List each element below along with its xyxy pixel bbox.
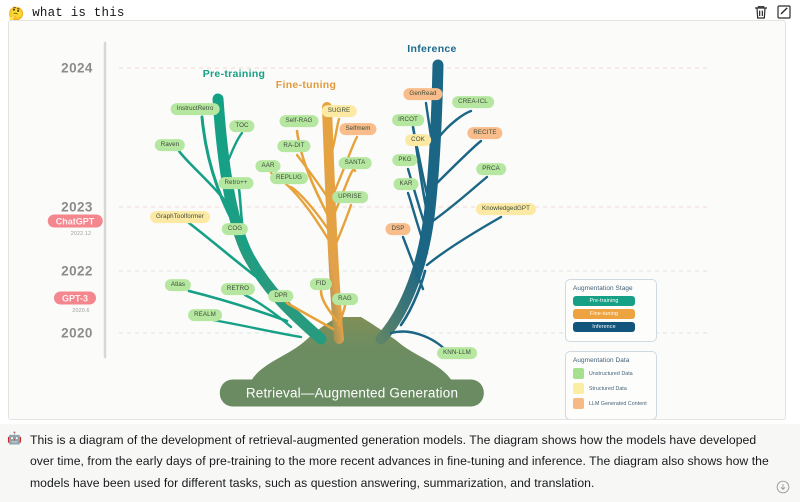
user-message-text: what is this	[32, 6, 124, 20]
timeline-event-chatgpt: ChatGPT	[48, 215, 103, 228]
model-node: PKG	[392, 154, 417, 166]
assistant-reply-text: This is a diagram of the development of …	[30, 430, 774, 502]
assistant-avatar-emoji: 🤖	[7, 432, 22, 502]
model-node: RECITE	[467, 127, 502, 139]
legend-augmentation-data: Augmentation Data Unstructured Data Stru…	[565, 351, 657, 420]
model-node: RA-DIT	[277, 140, 310, 152]
model-node: Raven	[155, 139, 185, 151]
assistant-reply: 🤖 This is a diagram of the development o…	[0, 424, 800, 502]
model-node: Retro++	[218, 177, 253, 189]
legend-augmentation-stage: Augmentation Stage Pre-training Fine-tun…	[565, 279, 657, 342]
model-node: AAR	[255, 160, 280, 172]
model-node: REPLUG	[270, 172, 308, 184]
timeline-year-2020: 2020	[61, 326, 93, 341]
legend-data-item-structured: Structured Data	[573, 383, 649, 394]
model-node: GraphToolformer	[150, 211, 210, 223]
rag-tree-svg	[9, 21, 785, 419]
model-node: DPR	[268, 290, 293, 302]
diagram-panel: Pre-training Fine-tuning Inference 2024 …	[8, 20, 786, 420]
legend-stage-item-pre-training: Pre-training	[573, 296, 635, 306]
timeline-event-chatgpt-date: 2022.12	[71, 231, 92, 237]
model-node: IRCOT	[392, 114, 424, 126]
model-node: UPRISE	[332, 191, 368, 203]
model-node: Atlas	[165, 279, 191, 291]
branch-title-inference: Inference	[407, 43, 456, 55]
timeline-year-2024: 2024	[61, 61, 93, 76]
model-node: KnowledgedGPT	[476, 203, 536, 215]
model-node: RETRO	[221, 283, 255, 295]
download-icon[interactable]	[776, 480, 790, 494]
model-node: SANTA	[339, 157, 372, 169]
timeline-event-gpt3: GPT-3	[54, 292, 96, 305]
legend-data-label-structured: Structured Data	[589, 386, 627, 392]
model-node: DSP	[385, 223, 410, 235]
model-node: KAR	[393, 178, 418, 190]
model-node: RAG	[332, 293, 358, 305]
legend-stage-item-inference: Inference	[573, 322, 635, 332]
unstructured-data-swatch-icon	[573, 368, 584, 379]
model-node: KNN-LLM	[437, 347, 477, 359]
model-node: SUGRE	[322, 105, 357, 117]
legend-data-item-unstructured: Unstructured Data	[573, 368, 649, 379]
legend-stage-title: Augmentation Stage	[573, 285, 649, 292]
diagram-root-label: Retrieval—Augmented Generation	[220, 380, 484, 407]
model-node: COG	[222, 223, 248, 235]
legend-stage-item-fine-tuning: Fine-tuning	[573, 309, 635, 319]
timeline-year-2023: 2023	[61, 200, 93, 215]
model-node: Selfmem	[339, 123, 376, 135]
message-actions	[753, 4, 792, 20]
trash-icon[interactable]	[753, 4, 769, 20]
model-node: InstructRetro	[171, 103, 220, 115]
model-node: REALM	[188, 309, 222, 321]
structured-data-swatch-icon	[573, 383, 584, 394]
chat-screen: 🤔 what is this	[0, 0, 800, 502]
legend-data-label-llm-generated: LLM Generated Content	[589, 401, 647, 407]
model-node: GenRead	[403, 88, 442, 100]
timeline-event-gpt3-date: 2020.6	[72, 308, 89, 314]
edit-icon[interactable]	[776, 4, 792, 20]
legend-data-title: Augmentation Data	[573, 357, 649, 364]
model-node: FID	[310, 278, 332, 290]
timeline-year-2022: 2022	[61, 264, 93, 279]
llm-generated-swatch-icon	[573, 398, 584, 409]
model-node: CREA-ICL	[452, 96, 494, 108]
model-node: PRCA	[476, 163, 506, 175]
legend-data-item-llm-generated: LLM Generated Content	[573, 398, 649, 409]
branch-title-pre-training: Pre-training	[203, 68, 266, 80]
legend-data-label-unstructured: Unstructured Data	[589, 371, 633, 377]
model-node: COK	[405, 134, 431, 146]
user-avatar-emoji: 🤔	[8, 7, 24, 20]
model-node: TOC	[229, 120, 254, 132]
branch-title-fine-tuning: Fine-tuning	[276, 79, 336, 91]
model-node: Self-RAG	[280, 115, 319, 127]
